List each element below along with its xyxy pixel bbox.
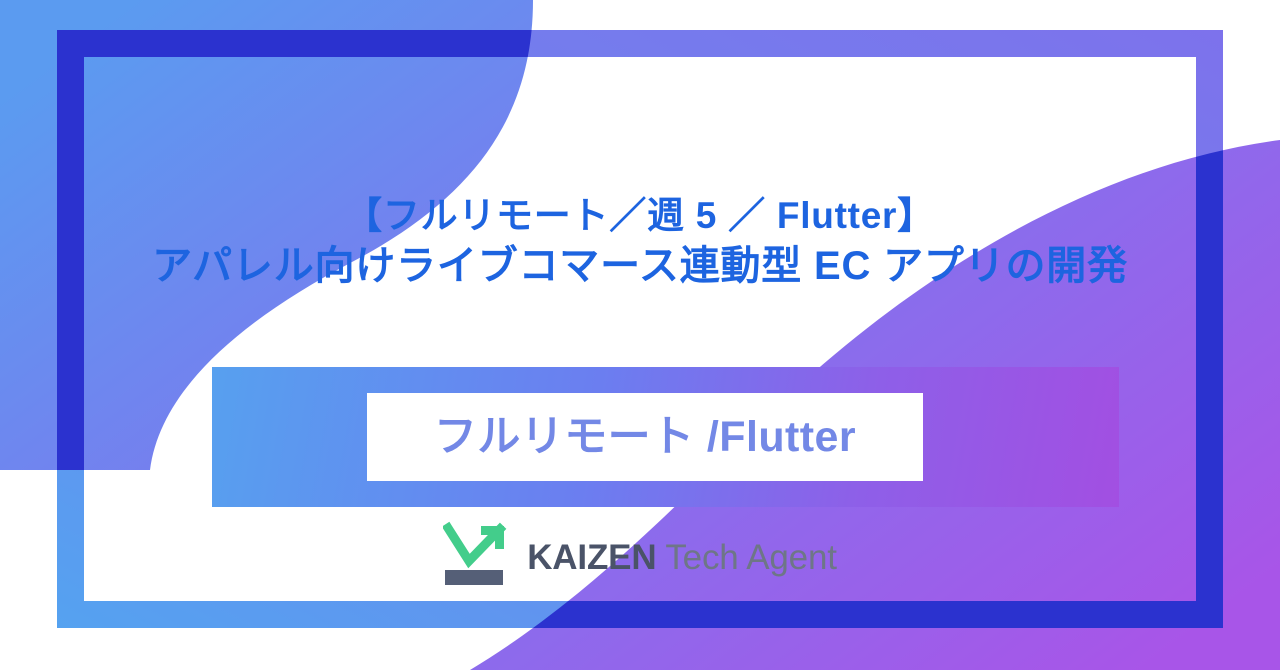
title-line-2: アパレル向けライブコマース連動型 EC アプリの開発 bbox=[0, 240, 1280, 292]
highlight-banner: フルリモート /Flutter bbox=[212, 367, 1119, 507]
brand-logo-text: KAIZEN Tech Agent bbox=[527, 540, 837, 587]
highlight-banner-label: フルリモート /Flutter bbox=[434, 416, 856, 459]
brand-suffix: Tech Agent bbox=[656, 538, 836, 577]
brand-logo: KAIZEN Tech Agent bbox=[0, 521, 1280, 587]
highlight-banner-box: フルリモート /Flutter bbox=[367, 393, 923, 481]
kaizen-growth-arrow-icon bbox=[443, 521, 515, 587]
page-title: 【フルリモート／週 5 ／ Flutter】 アパレル向けライブコマース連動型 … bbox=[0, 192, 1280, 292]
banner-card: 【フルリモート／週 5 ／ Flutter】 アパレル向けライブコマース連動型 … bbox=[0, 0, 1280, 670]
title-line-1: 【フルリモート／週 5 ／ Flutter】 bbox=[0, 192, 1280, 240]
brand-name: KAIZEN bbox=[527, 538, 656, 577]
